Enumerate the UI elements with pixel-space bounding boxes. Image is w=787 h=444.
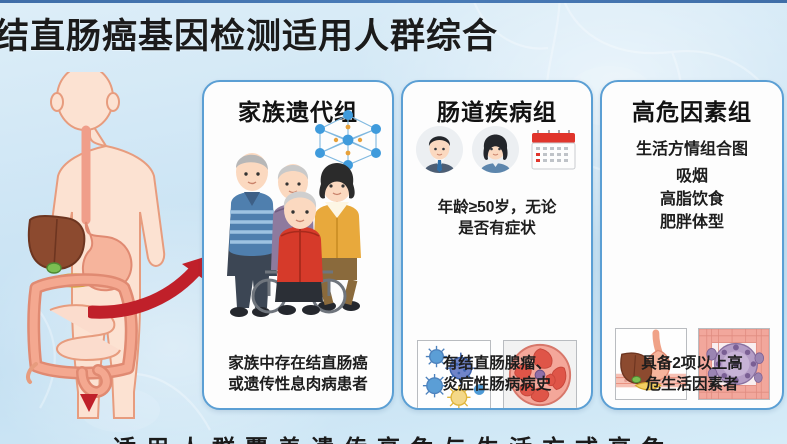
card-2-footer: 有结直肠腺瘤、 炎症性肠病病史 (403, 354, 591, 396)
card-2-footer-line-2: 炎症性肠病病史 (403, 375, 591, 396)
card-3-footer: 具备2项以上高 危生活因素者 (602, 354, 782, 396)
card-3-risk-list: 生活方情组合图 吸烟 高脂饮食 肥胖体型 (602, 135, 782, 235)
card-2-middle-text: 年龄≥50岁，无论 是否有症状 (403, 198, 591, 240)
card-2-title: 肠道疾病组 (403, 93, 591, 127)
male-avatar-icon (416, 126, 463, 173)
card-3-footer-line-2: 危生活因素者 (602, 375, 782, 396)
card-3-footer-line-1: 具备2项以上高 (602, 354, 782, 375)
card-3-item-3: 肥胖体型 (602, 211, 782, 234)
card-bowel-disease-group[interactable]: 肠道疾病组 (401, 80, 593, 410)
card-high-risk-factor-group[interactable]: 高危因素组 生活方情组合图 吸烟 高脂饮食 肥胖体型 (600, 80, 784, 410)
page-title: 结直肠癌基因检测适用人群综合 (0, 8, 498, 59)
slide-canvas: 结直肠癌基因检测适用人群综合 (0, 0, 787, 444)
family-illustration (211, 130, 389, 318)
calendar-icon (528, 127, 578, 172)
card-2-footer-line-1: 有结直肠腺瘤、 (403, 354, 591, 375)
card-1-footer-line-2: 或遗传性息肉病患者 (204, 375, 392, 396)
slide-top-strip (0, 0, 787, 3)
card-1-footer: 家族中存在结直肠癌 或遗传性息肉病患者 (204, 354, 392, 396)
bottom-caption: 适用人群覆盖遗传高危与生活方式高危 (0, 429, 787, 444)
female-avatar-icon (472, 126, 519, 173)
card-2-middle-line-1: 年龄≥50岁，无论 (403, 198, 591, 219)
card-2-avatar-row (403, 126, 591, 173)
card-1-footer-line-1: 家族中存在结直肠癌 (204, 354, 392, 375)
red-pointer-arrow (88, 250, 220, 336)
card-2-middle-line-2: 是否有症状 (403, 219, 591, 240)
card-3-title: 高危因素组 (602, 93, 782, 127)
card-3-item-2: 高脂饮食 (602, 188, 782, 211)
card-3-lead-line: 生活方情组合图 (602, 135, 782, 159)
human-digestive-system-illustration (2, 72, 210, 424)
card-family-heredity-group[interactable]: 家族遗代组 (202, 80, 394, 410)
card-3-item-1: 吸烟 (602, 165, 782, 188)
